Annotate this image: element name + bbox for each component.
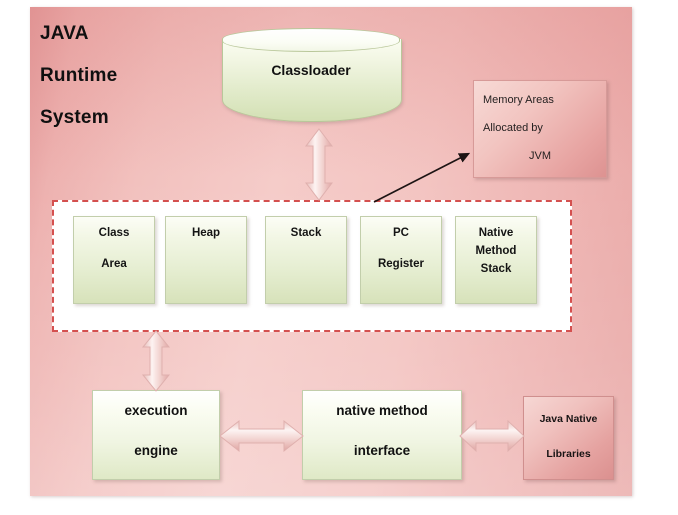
execution-engine-box: execution engine (92, 390, 220, 480)
memory-area-native-method-stack: Native Method Stack (455, 216, 537, 304)
native-method-interface-label-line-2: interface (303, 442, 461, 460)
heap-label-line-1: Heap (166, 226, 246, 241)
java-native-libraries-label-line-2: Libraries (524, 447, 613, 461)
classloader-label: Classloader (222, 62, 400, 78)
pc-register-label-line-1: PC (361, 226, 441, 241)
native-method-stack-label-line-3: Stack (456, 262, 536, 277)
title-line-java: JAVA (40, 13, 117, 55)
memory-area-class-area: Class Area (73, 216, 155, 304)
title-line-runtime: Runtime (40, 55, 117, 97)
memory-areas-to-execution-engine-arrow-icon (141, 330, 171, 392)
memory-note-line-2: Allocated by (474, 121, 606, 135)
execution-engine-label-line-1: execution (93, 402, 219, 420)
pc-register-label-line-2: Register (361, 257, 441, 272)
java-native-libraries-box: Java Native Libraries (523, 396, 614, 480)
memory-note-line-3: JVM (474, 149, 606, 163)
class-area-label-line-1: Class (74, 226, 154, 241)
stack-label-line-1: Stack (266, 226, 346, 241)
diagram-canvas: JAVA Runtime System Classloader Memory A… (0, 0, 678, 515)
memory-area-heap: Heap (165, 216, 247, 304)
native-method-interface-to-java-native-libraries-arrow-icon (459, 418, 525, 454)
class-area-label-line-2: Area (74, 257, 154, 272)
native-method-interface-box: native method interface (302, 390, 462, 480)
java-native-libraries-label-line-1: Java Native (524, 412, 613, 426)
memory-area-stack: Stack (265, 216, 347, 304)
native-method-stack-label-line-2: Method (456, 244, 536, 259)
cylinder-top-ellipse (222, 28, 400, 52)
classloader-to-memory-areas-arrow-icon (304, 128, 334, 201)
memory-areas-note-box: Memory Areas Allocated by JVM (473, 80, 607, 178)
execution-engine-label-line-2: engine (93, 442, 219, 460)
title-line-system: System (40, 97, 117, 139)
classloader-cylinder: Classloader (222, 28, 400, 128)
native-method-stack-label-line-1: Native (456, 226, 536, 241)
memory-area-pc-register: PC Register (360, 216, 442, 304)
native-method-interface-label-line-1: native method (303, 402, 461, 420)
memory-note-line-1: Memory Areas (474, 93, 606, 107)
execution-engine-to-native-method-interface-arrow-icon (219, 418, 304, 454)
page-title: JAVA Runtime System (40, 13, 117, 139)
memory-areas-annotation-pointer-icon (360, 145, 485, 207)
